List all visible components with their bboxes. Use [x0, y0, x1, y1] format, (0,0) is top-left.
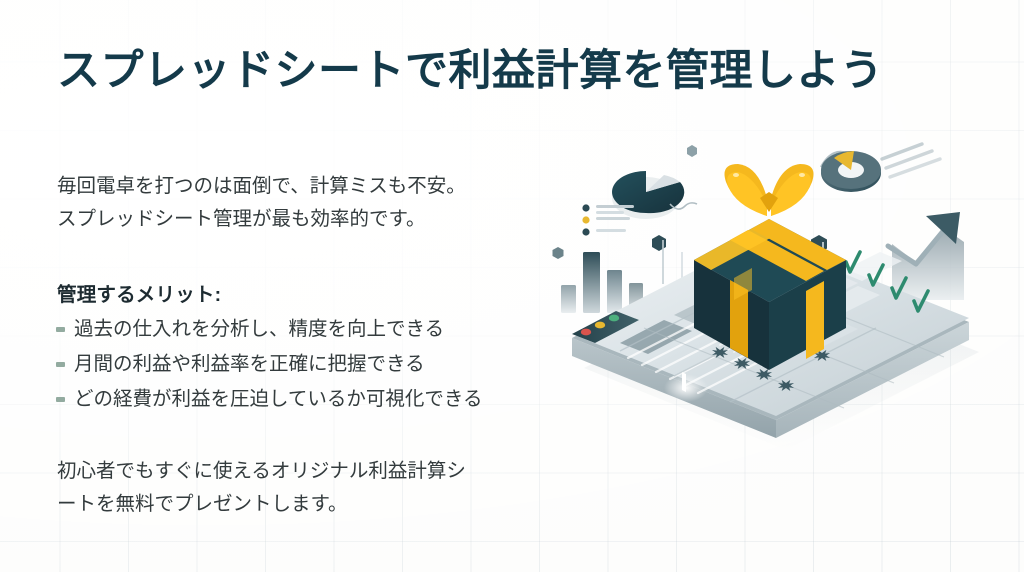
dot-green-icon: [609, 315, 619, 322]
slide-canvas: スプレッドシートで利益計算を管理しよう 毎回電卓を打つのは面倒で、計算ミスも不安…: [0, 0, 1024, 572]
list-item-label: どの経費が利益を圧迫しているか可視化できる: [74, 388, 483, 410]
text-column: スプレッドシートで利益計算を管理しよう 毎回電卓を打つのは面倒で、計算ミスも不安…: [56, 0, 556, 572]
benefits-heading: 管理するメリット:: [57, 278, 221, 307]
bullet-icon: [56, 397, 65, 402]
dot-yellow-icon: [595, 322, 605, 329]
outro-line-1: 初心者でもすぐに使えるオリジナル利益計算シ: [57, 460, 466, 482]
gift-box: [694, 164, 846, 370]
list-item: 過去の仕入れを分析し、精度を向上できる: [56, 312, 546, 347]
pie-chart-icon: [612, 171, 697, 219]
bullet-icon: [56, 327, 65, 332]
outro-paragraph: 初心者でもすぐに使えるオリジナル利益計算シ ートを無料でプレゼントします。: [57, 455, 537, 521]
speed-lines-icon: [882, 144, 940, 177]
dot-red-icon: [581, 329, 591, 336]
list-item: どの経費が利益を圧迫しているか可視化できる: [56, 382, 546, 417]
list-item: 月間の利益や利益率を正確に把握できる: [56, 347, 546, 382]
intro-line-1: 毎回電卓を打つのは面倒で、計算ミスも不安。: [57, 175, 466, 197]
page-title: スプレッドシートで利益計算を管理しよう: [57, 46, 937, 97]
list-item-label: 月間の利益や利益率を正確に把握できる: [74, 353, 425, 375]
donut-chart-icon: [821, 151, 881, 192]
trend-arrow-icon: [888, 212, 964, 300]
intro-paragraph: 毎回電卓を打つのは面倒で、計算ミスも不安。 スプレッドシート管理が最も効率的です…: [57, 170, 527, 236]
intro-line-2: スプレッドシート管理が最も効率的です。: [57, 203, 527, 236]
outro-line-2: ートを無料でプレゼントします。: [57, 488, 537, 521]
list-item-label: 過去の仕入れを分析し、精度を向上できる: [74, 318, 444, 340]
benefits-list: 過去の仕入れを分析し、精度を向上できる 月間の利益や利益率を正確に把握できる ど…: [56, 312, 546, 417]
bullet-icon: [56, 362, 65, 367]
illustration-isometric-gift-spreadsheet: [524, 120, 1024, 470]
